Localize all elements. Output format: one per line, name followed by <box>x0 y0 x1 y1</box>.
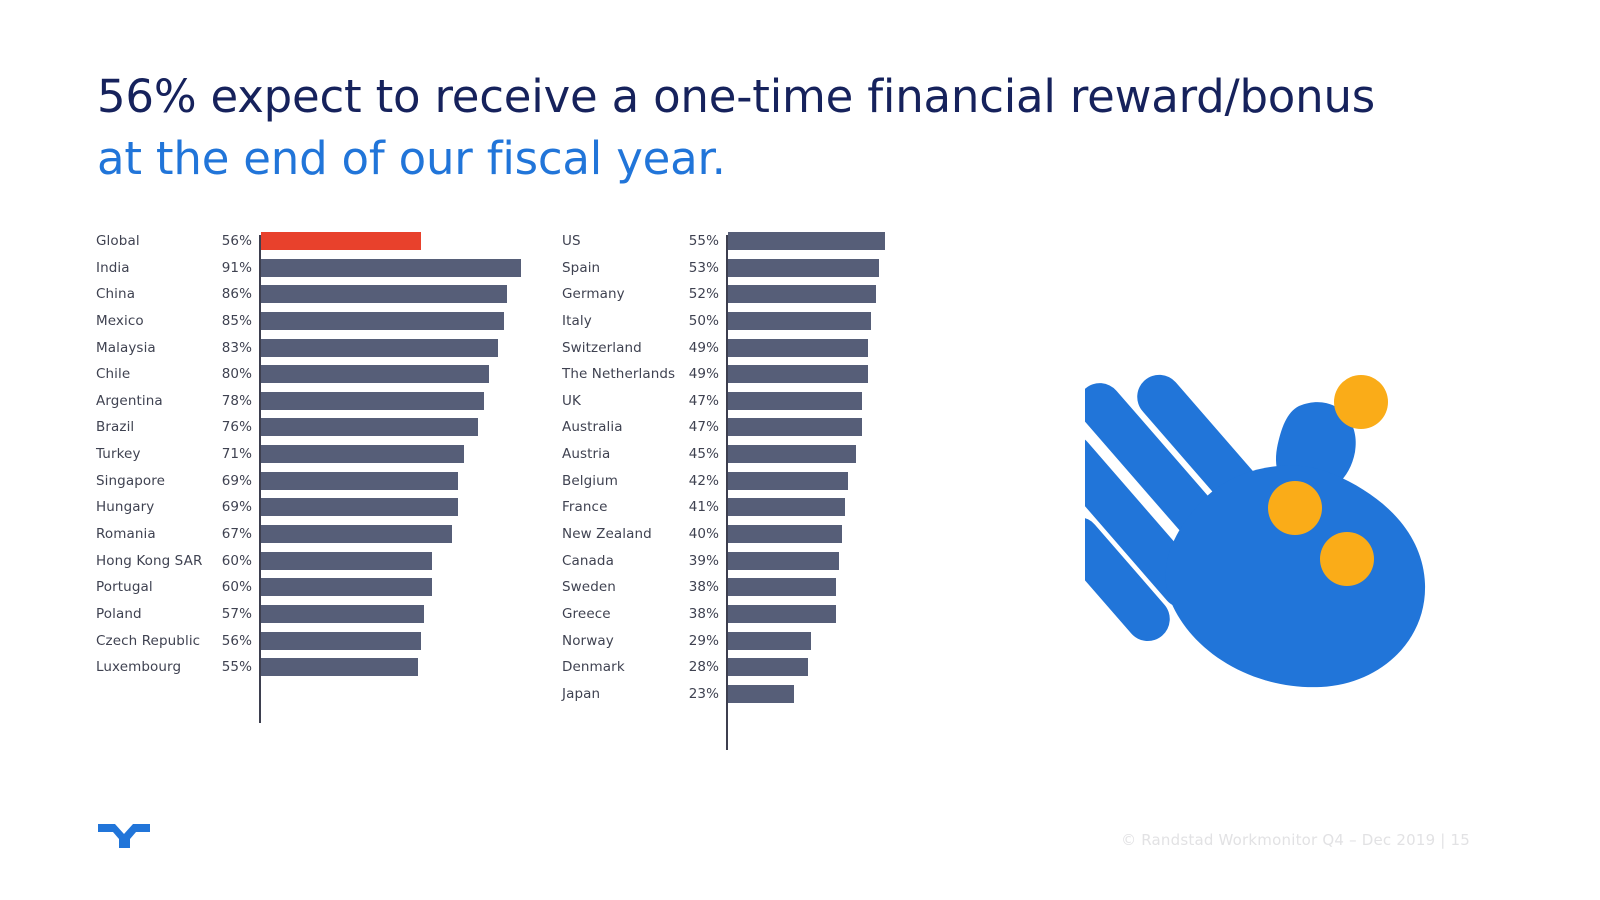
bar-category-label: Sweden <box>562 579 616 595</box>
bar-category-label: Chile <box>96 366 130 382</box>
randstad-logo-icon <box>97 815 153 849</box>
bar-rect <box>728 445 856 463</box>
bar-value-label: 85% <box>194 313 252 329</box>
bar-category-label: Norway <box>562 633 614 649</box>
bar-rect <box>261 312 504 330</box>
bar-category-label: Canada <box>562 553 614 569</box>
bar-value-label: 55% <box>194 659 252 675</box>
bar-category-label: Greece <box>562 606 611 622</box>
bar-category-label: Austria <box>562 446 610 462</box>
bar-value-label: 38% <box>661 606 719 622</box>
bar-value-label: 29% <box>661 633 719 649</box>
slide-canvas: 56% expect to receive a one-time financi… <box>0 0 1600 900</box>
bar-category-label: Hungary <box>96 499 154 515</box>
bar-category-label: Spain <box>562 260 600 276</box>
bar-value-label: 80% <box>194 366 252 382</box>
bar-rect <box>261 658 418 676</box>
bar-value-label: 67% <box>194 526 252 542</box>
bar-rect <box>261 339 498 357</box>
bar-value-label: 23% <box>661 686 719 702</box>
bar-rect <box>728 632 811 650</box>
bar-value-label: 71% <box>194 446 252 462</box>
bar-value-label: 78% <box>194 393 252 409</box>
bar-value-label: 69% <box>194 473 252 489</box>
hand-icon <box>1085 348 1445 693</box>
bar-rect <box>261 232 421 250</box>
bar-category-label: Singapore <box>96 473 165 489</box>
bar-category-label: Portugal <box>96 579 153 595</box>
bar-category-label: Poland <box>96 606 142 622</box>
bar-rect <box>261 365 489 383</box>
bar-value-label: 57% <box>194 606 252 622</box>
bar-category-label: Belgium <box>562 473 618 489</box>
bar-rect <box>728 259 879 277</box>
bar-rect <box>728 339 868 357</box>
bar-category-label: China <box>96 286 135 302</box>
bar-rect <box>261 259 521 277</box>
bar-value-label: 69% <box>194 499 252 515</box>
bar-rect <box>261 632 421 650</box>
bar-value-label: 53% <box>661 260 719 276</box>
bar-rect <box>728 525 842 543</box>
bar-value-label: 39% <box>661 553 719 569</box>
bar-category-label: Brazil <box>96 419 134 435</box>
bar-value-label: 42% <box>661 473 719 489</box>
bar-value-label: 47% <box>661 419 719 435</box>
bar-value-label: 55% <box>661 233 719 249</box>
bar-category-label: Australia <box>562 419 623 435</box>
bar-category-label: Czech Republic <box>96 633 200 649</box>
bar-value-label: 41% <box>661 499 719 515</box>
randstad-logo <box>97 815 153 849</box>
bar-category-label: Hong Kong SAR <box>96 553 202 569</box>
bar-category-label: Denmark <box>562 659 625 675</box>
bar-rect <box>728 285 876 303</box>
bar-value-label: 76% <box>194 419 252 435</box>
bar-rect <box>261 578 432 596</box>
coin-middle <box>1268 481 1322 535</box>
bar-category-label: India <box>96 260 130 276</box>
bar-value-label: 28% <box>661 659 719 675</box>
bar-category-label: Italy <box>562 313 592 329</box>
bar-value-label: 45% <box>661 446 719 462</box>
slide-footer: © Randstad Workmonitor Q4 – Dec 2019 | 1… <box>1121 831 1470 849</box>
bar-category-label: Mexico <box>96 313 144 329</box>
bar-value-label: 60% <box>194 579 252 595</box>
bar-value-label: 50% <box>661 313 719 329</box>
bar-rect <box>261 445 464 463</box>
bar-category-label: Germany <box>562 286 625 302</box>
bar-rect <box>728 418 862 436</box>
page-title: 56% expect to receive a one-time financi… <box>97 66 1427 190</box>
bar-rect <box>728 578 836 596</box>
bar-category-label: France <box>562 499 608 515</box>
bar-category-label: Malaysia <box>96 340 156 356</box>
bar-rect <box>261 552 432 570</box>
bar-rect <box>261 472 458 490</box>
bar-rect <box>728 232 885 250</box>
bar-rect <box>728 312 871 330</box>
bar-category-label: New Zealand <box>562 526 652 542</box>
bar-category-label: The Netherlands <box>562 366 675 382</box>
bar-value-label: 49% <box>661 340 719 356</box>
bar-rect <box>261 285 507 303</box>
bar-value-label: 83% <box>194 340 252 356</box>
coin-top <box>1334 375 1388 429</box>
bar-value-label: 60% <box>194 553 252 569</box>
bar-rect <box>261 605 424 623</box>
bar-category-label: UK <box>562 393 581 409</box>
bar-rect <box>261 498 458 516</box>
title-highlight-text: at the end of our fiscal year. <box>97 132 726 185</box>
bar-rect <box>728 472 848 490</box>
bar-rect <box>728 605 836 623</box>
bar-category-label: Japan <box>562 686 600 702</box>
bar-value-label: 56% <box>194 233 252 249</box>
bar-category-label: Romania <box>96 526 156 542</box>
bar-rect <box>261 418 478 436</box>
coin-bottom <box>1320 532 1374 586</box>
bar-category-label: Luxembourg <box>96 659 181 675</box>
bar-rect <box>261 525 452 543</box>
bar-value-label: 38% <box>661 579 719 595</box>
bar-value-label: 86% <box>194 286 252 302</box>
bar-rect <box>728 658 808 676</box>
bar-value-label: 56% <box>194 633 252 649</box>
bar-value-label: 40% <box>661 526 719 542</box>
bar-rect <box>728 552 839 570</box>
bar-rect <box>261 392 484 410</box>
bar-rect <box>728 365 868 383</box>
bar-category-label: Switzerland <box>562 340 642 356</box>
bar-value-label: 91% <box>194 260 252 276</box>
bar-value-label: 52% <box>661 286 719 302</box>
bar-value-label: 47% <box>661 393 719 409</box>
bar-rect <box>728 498 845 516</box>
hand-with-coins-illustration <box>1085 348 1445 693</box>
bar-category-label: Global <box>96 233 140 249</box>
bar-category-label: Turkey <box>96 446 141 462</box>
title-main-text: 56% expect to receive a one-time financi… <box>97 70 1375 123</box>
bar-category-label: US <box>562 233 581 249</box>
bar-value-label: 49% <box>661 366 719 382</box>
bar-category-label: Argentina <box>96 393 163 409</box>
bar-rect <box>728 392 862 410</box>
bar-rect <box>728 685 794 703</box>
